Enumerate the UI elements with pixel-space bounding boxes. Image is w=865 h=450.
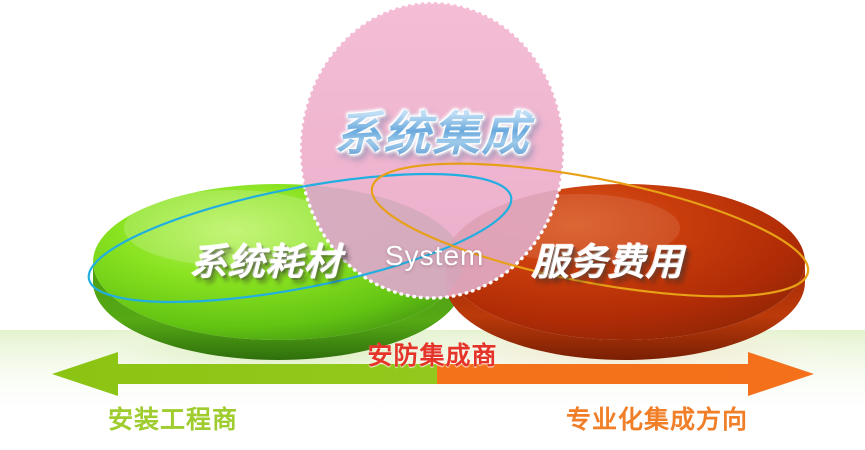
axis-right-caption: 专业化集成方向 xyxy=(566,400,748,436)
axis-center-caption: 安防集成商 xyxy=(0,336,865,372)
overlap-label-system: System xyxy=(385,240,484,272)
diagram-canvas: 系统集成 系统耗材 服务费用 System 安防集成商 安装工程商 专业化集成方… xyxy=(0,0,865,450)
axis-left-caption: 安装工程商 xyxy=(108,400,238,436)
green-disc-label: 系统耗材 xyxy=(190,232,342,286)
diagram-title-system-integration: 系统集成 xyxy=(0,95,865,164)
diagram-graphics xyxy=(0,0,865,450)
red-disc-label: 服务费用 xyxy=(532,232,684,286)
